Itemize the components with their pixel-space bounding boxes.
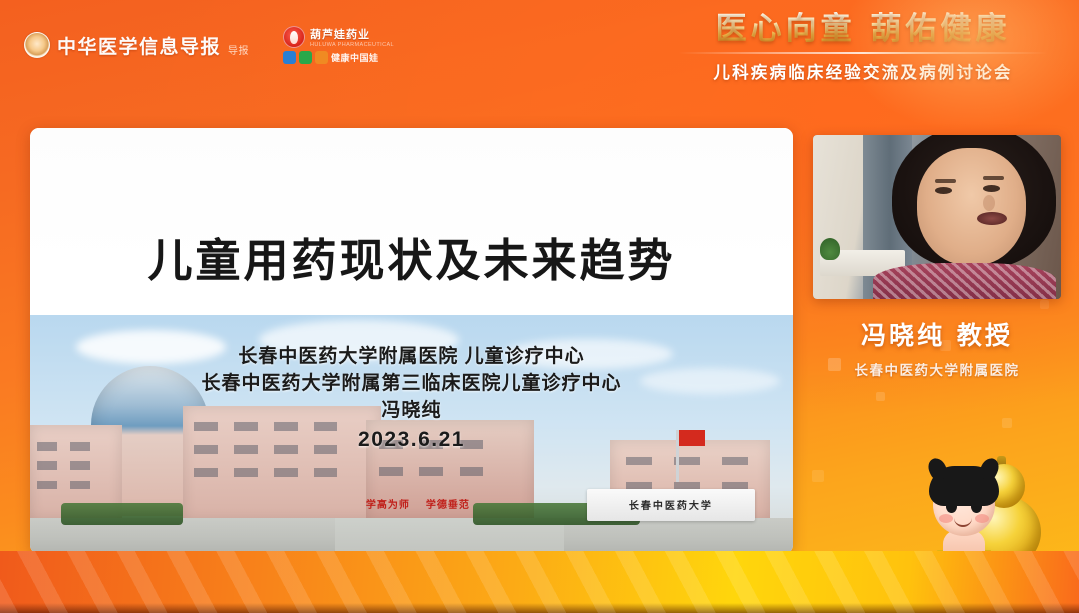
slide-title: 儿童用药现状及未来趋势 (30, 224, 793, 289)
logo-cmia-suffix: 导报 (228, 42, 249, 59)
red-sign: 学高为师 学德垂范 (343, 492, 493, 516)
logo-group: 中华医学信息导报 导报 葫芦娃药业 HULUWA PHARMACEUTICAL … (24, 26, 394, 64)
speaker-shirt (873, 263, 1057, 299)
red-sign-right-text: 学德垂范 (426, 496, 470, 511)
hedge-row (61, 503, 183, 525)
chip-orange-icon (315, 51, 328, 64)
speaker-name: 冯晓纯 教授 (813, 316, 1061, 352)
slide-caption-block: 长春中医药大学附属医院 儿童诊疗中心 长春中医药大学附属第三临床医院儿童诊疗中心… (30, 344, 793, 455)
logo-cmia-name: 中华医学信息导报 (57, 32, 221, 59)
seal-icon (24, 32, 50, 58)
room-plant-icon (820, 238, 840, 260)
speaker-video-feed[interactable] (813, 135, 1061, 299)
logo-huluwa-tag: 健康中国娃 (331, 51, 379, 64)
speaker-face (917, 148, 1026, 266)
caption-line-2: 长春中医药大学附属第三临床医院儿童诊疗中心 (30, 371, 793, 398)
caption-line-4: 2023.6.21 (30, 425, 793, 455)
header-bar: 中华医学信息导报 导报 葫芦娃药业 HULUWA PHARMACEUTICAL … (0, 0, 1079, 112)
band-shadow (0, 603, 1079, 613)
caption-line-1: 长春中医药大学附属医院 儿童诊疗中心 (30, 344, 793, 371)
banner-divider (679, 52, 1047, 54)
speaker-organization: 长春中医药大学附属医院 (813, 359, 1061, 379)
logo-huluwa-english: HULUWA PHARMACEUTICAL (310, 42, 394, 48)
caption-line-3: 冯晓纯 (30, 398, 793, 425)
speaker-mouth (977, 212, 1007, 225)
logo-cmia: 中华医学信息导报 导报 (24, 32, 249, 59)
speaker-nose (983, 195, 995, 211)
red-sign-left-text: 学高为师 (366, 496, 410, 511)
banner-subtitle: 儿科疾病临床经验交流及病例讨论会 (663, 59, 1063, 83)
banner-main-title: 医心向童 葫佑健康 (663, 12, 1063, 48)
presentation-slide[interactable]: 儿童用药现状及未来趋势 (30, 128, 793, 554)
broadcast-stage: 中华医学信息导报 导报 葫芦娃药业 HULUWA PHARMACEUTICAL … (0, 0, 1079, 613)
chip-green-icon (299, 51, 312, 64)
campus-sign-wall: 长春中医药大学 (587, 489, 755, 521)
event-banner: 医心向童 葫佑健康 儿科疾病临床经验交流及病例讨论会 (663, 12, 1063, 83)
gourd-badge-icon (283, 26, 305, 48)
chip-blue-icon (283, 51, 296, 64)
speaker-info: 冯晓纯 教授 长春中医药大学附属医院 (813, 316, 1061, 379)
logo-huluwa: 葫芦娃药业 HULUWA PHARMACEUTICAL 健康中国娃 (283, 26, 394, 64)
bottom-gradient-band (0, 551, 1079, 613)
campus-sign-text: 长春中医药大学 (629, 497, 713, 512)
logo-huluwa-name: 葫芦娃药业 (310, 26, 394, 42)
